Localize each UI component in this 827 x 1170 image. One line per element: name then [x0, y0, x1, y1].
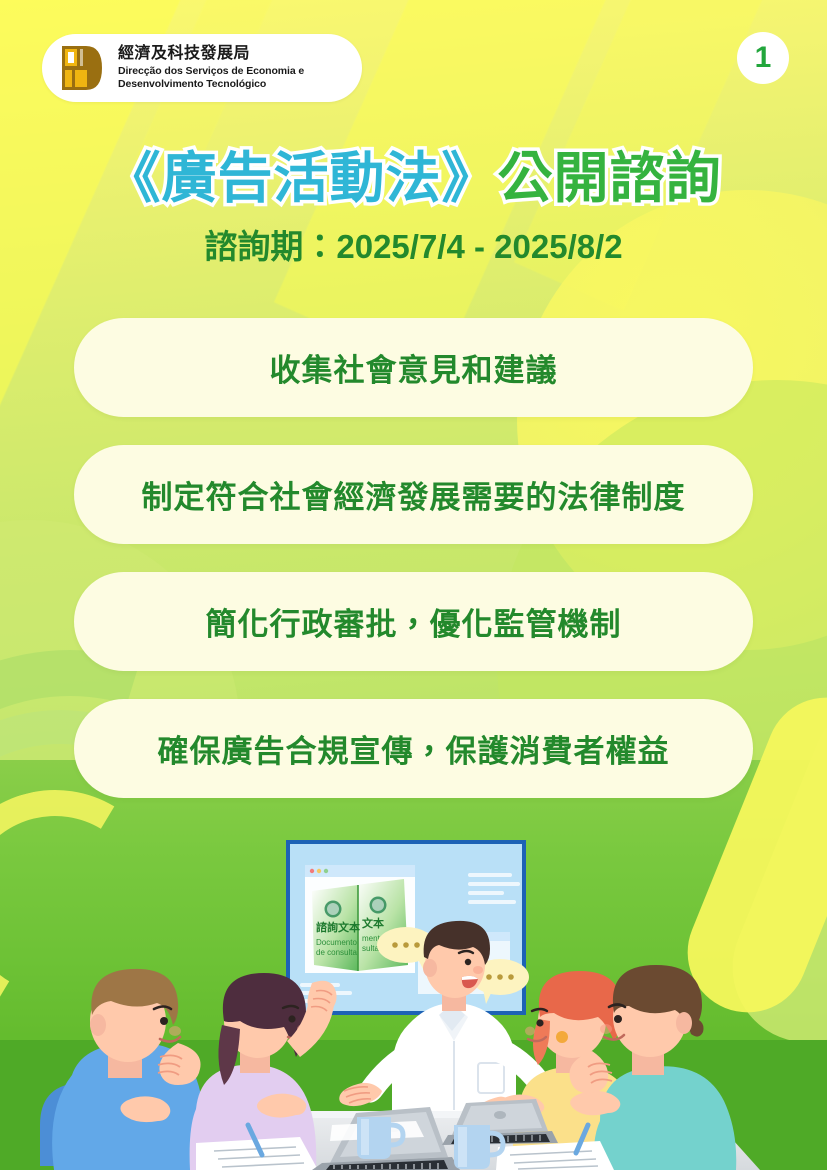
participant-figure-1 [40, 969, 205, 1170]
document-title-zh: 諮詢文本 [316, 920, 360, 934]
list-item: 收集社會意見和建議 [74, 318, 753, 417]
svg-text:sulta: sulta [362, 944, 379, 953]
organisation-logo-badge: 經濟及科技發展局 Direcção dos Serviços de Econom… [42, 34, 362, 102]
logo-text-block: 經濟及科技發展局 Direcção dos Serviços de Econom… [118, 45, 304, 91]
svg-text:de consulta: de consulta [316, 948, 357, 957]
meeting-illustration: 諮詢文本 文本 Documento de consulta mento sult… [0, 825, 827, 1170]
page-title: 《廣告活動法》公開諮詢 [0, 148, 827, 210]
list-item: 確保廣告合規宣傳，保護消費者權益 [74, 699, 753, 798]
page-number-badge: 1 [737, 32, 789, 84]
logo-name-zh: 經濟及科技發展局 [118, 45, 304, 63]
logo-name-pt: Direcção dos Serviços de Economia e Dese… [118, 65, 304, 91]
title-law-name: 《廣告活動法》 [105, 147, 497, 209]
page-number-value: 1 [755, 43, 772, 73]
document-title-pt: Documento [316, 938, 357, 947]
title-consultation: 公開諮詢 [498, 147, 722, 209]
consultation-period: 諮詢期：2025/7/4 - 2025/8/2 [0, 220, 827, 268]
list-item-label: 確保廣告合規宣傳，保護消費者權益 [158, 726, 670, 771]
list-item-label: 簡化行政審批，優化監管機制 [206, 599, 622, 644]
list-item-label: 收集社會意見和建議 [270, 345, 558, 390]
title-block: 《廣告活動法》公開諮詢 諮詢期：2025/7/4 - 2025/8/2 [0, 148, 827, 268]
poster-root: 經濟及科技發展局 Direcção dos Serviços de Econom… [0, 0, 827, 1170]
list-item-label: 制定符合社會經濟發展需要的法律制度 [142, 472, 686, 517]
list-item: 簡化行政審批，優化監管機制 [74, 572, 753, 671]
list-item: 制定符合社會經濟發展需要的法律制度 [74, 445, 753, 544]
dsedt-logo-icon [60, 45, 104, 91]
meeting-illustration-svg: 諮詢文本 文本 Documento de consulta mento sult… [0, 825, 827, 1170]
svg-text:文本: 文本 [362, 916, 384, 930]
key-points-list: 收集社會意見和建議 制定符合社會經濟發展需要的法律制度 簡化行政審批，優化監管機… [74, 318, 753, 826]
